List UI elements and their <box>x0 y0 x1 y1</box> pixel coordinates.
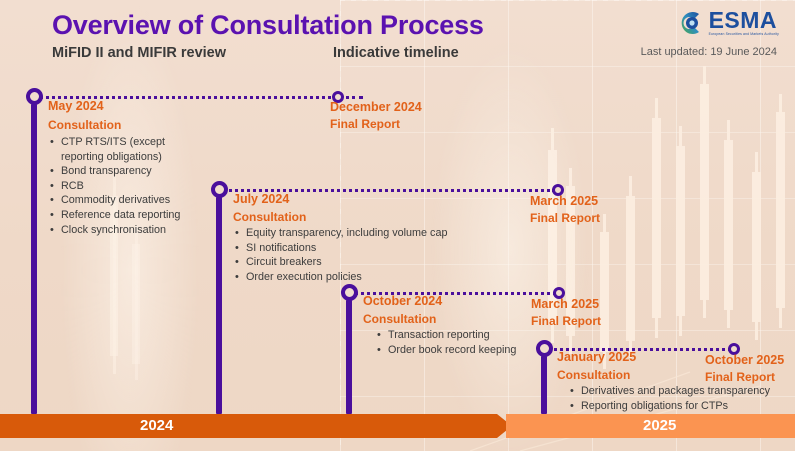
list-item: Derivatives and packages transparency <box>581 384 770 399</box>
end-kind-label: Final Report <box>531 314 601 328</box>
list-item: SI notifications <box>246 241 447 256</box>
esma-logo-text: ESMA European Securities and Markets Aut… <box>709 9 779 36</box>
end-date-label: December 2024 <box>330 100 422 114</box>
list-item: Transaction reporting <box>388 328 516 343</box>
esma-logo-icon <box>675 9 705 37</box>
end-kind-label: Final Report <box>330 117 400 131</box>
list-item: Reference data reporting <box>61 208 196 223</box>
list-item: Bond transparency <box>61 164 196 179</box>
background-glow-right <box>430 40 590 451</box>
branch-item-list: Transaction reporting Order book record … <box>375 328 516 357</box>
last-updated-label: Last updated: 19 June 2024 <box>641 46 777 58</box>
list-item: Clock synchronisation <box>61 223 196 238</box>
branch-stem <box>216 197 222 414</box>
branch-item-list: Derivatives and packages transparency Re… <box>568 384 770 413</box>
list-item: Reporting obligations for CTPs <box>581 399 770 414</box>
esma-tagline: European Securities and Markets Authorit… <box>709 33 779 36</box>
esma-wordmark: ESMA <box>709 9 779 32</box>
branch-date-label: October 2024 <box>363 294 442 308</box>
branch-stem <box>346 300 352 414</box>
branch-date-label: January 2025 <box>557 350 636 364</box>
list-item: Order book record keeping <box>388 343 516 358</box>
list-item: Circuit breakers <box>246 255 447 270</box>
list-item: RCB <box>61 179 196 194</box>
year-label-2025: 2025 <box>643 417 676 434</box>
year-segment-2024 <box>0 414 512 438</box>
branch-node-marker <box>26 88 43 105</box>
list-item: Equity transparency, including volume ca… <box>246 226 447 241</box>
branch-kind-label: Consultation <box>48 118 121 132</box>
branch-item-list: Equity transparency, including volume ca… <box>233 226 447 284</box>
end-kind-label: Final Report <box>530 211 600 225</box>
list-item: Order execution policies <box>246 270 447 285</box>
end-date-label: October 2025 <box>705 353 784 367</box>
branch-stem <box>31 104 37 414</box>
branch-date-label: July 2024 <box>233 192 289 206</box>
branch-stem <box>541 356 547 414</box>
branch-item-list: CTP RTS/ITS (except reporting obligation… <box>48 135 196 237</box>
end-kind-label: Final Report <box>705 370 775 384</box>
esma-logo: ESMA European Securities and Markets Aut… <box>675 7 779 39</box>
list-item: CTP RTS/ITS (except reporting obligation… <box>61 135 196 164</box>
end-date-label: March 2025 <box>530 194 598 208</box>
branch-node-marker <box>536 340 553 357</box>
branch-kind-label: Consultation <box>363 312 436 326</box>
branch-node-marker <box>211 181 228 198</box>
branch-date-label: May 2024 <box>48 99 104 113</box>
subtitle-right: Indicative timeline <box>333 45 459 61</box>
branch-kind-label: Consultation <box>557 368 630 382</box>
subtitle-left: MiFID II and MIFIR review <box>52 45 226 61</box>
page-title: Overview of Consultation Process <box>52 10 484 41</box>
end-date-label: March 2025 <box>531 297 599 311</box>
branch-kind-label: Consultation <box>233 210 306 224</box>
branch-node-marker <box>341 284 358 301</box>
year-label-2024: 2024 <box>140 417 173 434</box>
year-axis-bar: 2024 2025 <box>0 414 795 438</box>
list-item: Commodity derivatives <box>61 193 196 208</box>
infographic-canvas: Overview of Consultation Process MiFID I… <box>0 0 795 451</box>
